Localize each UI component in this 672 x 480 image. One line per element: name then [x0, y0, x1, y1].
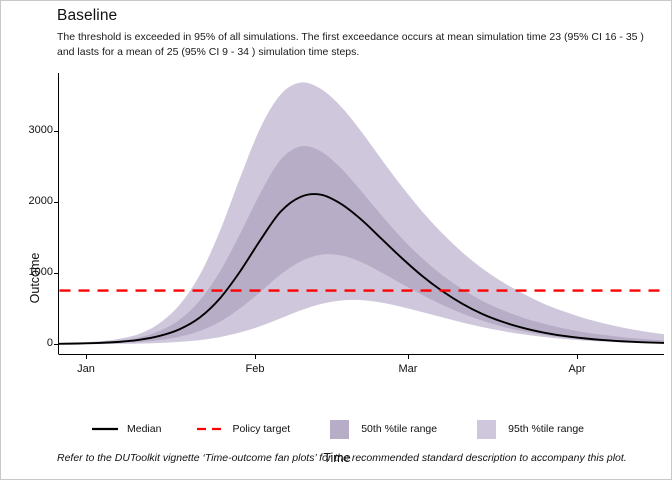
- x-tick-label: Jan: [64, 363, 108, 375]
- chart-legend: Median Policy target 50th %tile range 95…: [1, 413, 672, 445]
- y-axis-title: Outcome: [28, 218, 42, 338]
- y-tick-label: 0: [9, 337, 53, 349]
- policy-target-dashed-key: [195, 420, 225, 438]
- legend-item-band-95[interactable]: 95th %tile range: [471, 420, 584, 438]
- median-line-key: [90, 420, 120, 438]
- band-95-swatch: [471, 420, 501, 438]
- y-tick-label: 2000: [9, 195, 53, 207]
- legend-item-band-50[interactable]: 50th %tile range: [324, 420, 437, 438]
- legend-label: Policy target: [232, 423, 290, 435]
- legend-label: 95th %tile range: [508, 423, 584, 435]
- footer-note: Refer to the DUToolkit vignette ‘Time-ou…: [57, 451, 627, 465]
- band-50-swatch: [324, 420, 354, 438]
- fan-plot-page: Baseline The threshold is exceeded in 95…: [0, 0, 672, 480]
- x-tick-label: Mar: [386, 363, 430, 375]
- chart-area: Outcome Time 3000 2000 1000 0 Jan Feb Ma…: [1, 73, 672, 373]
- y-tick-label: 1000: [9, 266, 53, 278]
- page-title: Baseline: [57, 7, 657, 25]
- x-tick-label: Feb: [233, 363, 277, 375]
- legend-label: 50th %tile range: [361, 423, 437, 435]
- fan-plot-svg: [1, 73, 672, 373]
- legend-item-median[interactable]: Median: [90, 420, 161, 438]
- plot-subtitle: The threshold is exceeded in 95% of all …: [57, 30, 657, 59]
- y-tick-label: 3000: [9, 124, 53, 136]
- legend-item-policy-target[interactable]: Policy target: [195, 420, 290, 438]
- legend-label: Median: [127, 423, 161, 435]
- plot-header: Baseline The threshold is exceeded in 95…: [57, 7, 657, 59]
- x-tick-label: Apr: [555, 363, 599, 375]
